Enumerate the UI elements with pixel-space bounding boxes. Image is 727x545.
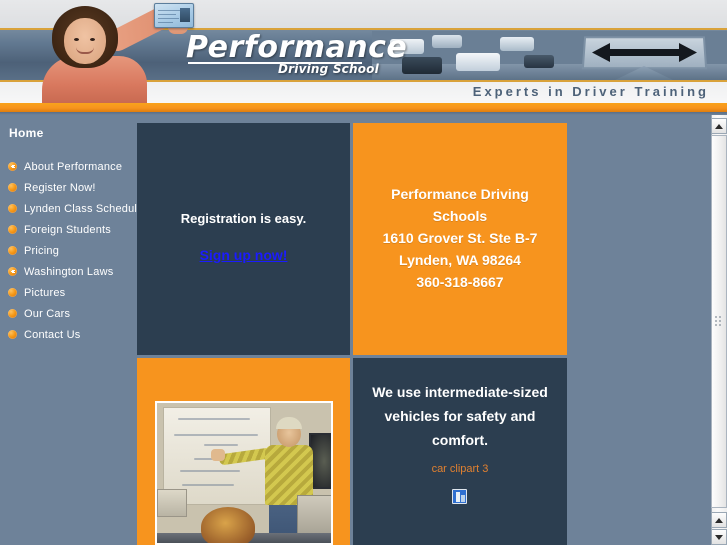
sidebar-item-label: Register Now!: [24, 182, 96, 194]
license-text-line: [158, 14, 176, 15]
double-arrow-icon: [588, 39, 701, 66]
vertical-scrollbar[interactable]: [710, 115, 727, 545]
whiteboard-writing: [204, 444, 238, 446]
car-icon: [456, 53, 500, 71]
address-panel: Performance Driving Schools 1610 Grover …: [353, 123, 567, 355]
orange-plus-bullet-icon: [8, 267, 17, 276]
sidebar-item-register-now[interactable]: Register Now!: [0, 177, 137, 198]
orange-bullet-icon: [8, 204, 17, 213]
chevron-down-icon: [715, 535, 723, 540]
drivers-license-card: [154, 3, 194, 28]
whiteboard-writing: [174, 434, 258, 436]
main-content-grid: Registration is easy. Sign up now! Perfo…: [137, 123, 702, 545]
sign-up-link-wrapper: Sign up now!: [137, 247, 350, 265]
scrollbar-thumb[interactable]: [711, 135, 727, 508]
license-text-line: [158, 10, 180, 11]
sidebar-item-label: Our Cars: [24, 308, 70, 320]
car-icon: [402, 57, 442, 74]
orange-plus-bullet-icon: [8, 162, 17, 171]
eye-icon: [74, 38, 79, 41]
address-block: Performance Driving Schools 1610 Grover …: [359, 183, 561, 293]
sidebar-item-label: About Performance: [24, 161, 122, 173]
chevron-up-icon: [715, 518, 723, 523]
student-head: [201, 507, 255, 545]
orange-bullet-icon: [8, 309, 17, 318]
address-company-line1: Performance Driving: [359, 183, 561, 205]
address-street: 1610 Grover St. Ste B-7: [359, 227, 561, 249]
registration-panel: Registration is easy. Sign up now!: [137, 123, 350, 355]
address-company-line2: Schools: [359, 205, 561, 227]
vehicles-heading: We use intermediate-sized vehicles for s…: [361, 380, 559, 452]
logo-primary-text: Performance: [186, 30, 407, 65]
orange-bullet-icon: [8, 330, 17, 339]
broken-image-alt-text: car clipart 3: [353, 463, 567, 475]
whiteboard-writing: [178, 418, 250, 420]
license-portrait: [180, 8, 190, 22]
scroll-up-button-secondary[interactable]: [711, 512, 727, 528]
sidebar-item-pricing[interactable]: Pricing: [0, 240, 137, 261]
logo-secondary-text: Driving School: [278, 62, 379, 76]
header-orange-rule: [0, 103, 727, 112]
classroom-instructor-photo: [155, 401, 333, 545]
orange-bullet-icon: [8, 225, 17, 234]
sidebar-item-foreign-students[interactable]: Foreign Students: [0, 219, 137, 240]
scroll-up-button[interactable]: [711, 118, 727, 134]
chevron-up-icon: [715, 124, 723, 129]
woman-with-license-photo: [26, 0, 186, 103]
scrollbar-grip-icon: [715, 316, 723, 328]
license-text-line: [158, 18, 179, 19]
header-tagline: Experts in Driver Training: [473, 84, 709, 99]
instructor-hand: [211, 449, 225, 461]
sidebar-item-pictures[interactable]: Pictures: [0, 282, 137, 303]
sidebar-item-label: Lynden Class Schedule: [24, 203, 143, 215]
classroom-cabinet: [297, 495, 333, 535]
sidebar-item-about-performance[interactable]: About Performance: [0, 156, 137, 177]
classroom-photo-panel: [137, 358, 350, 545]
scroll-down-button[interactable]: [711, 529, 727, 545]
license-text-line: [158, 22, 173, 23]
whiteboard-writing: [180, 470, 240, 472]
classroom-computer: [157, 489, 187, 517]
registration-heading: Registration is easy.: [137, 211, 350, 226]
sidebar-item-our-cars[interactable]: Our Cars: [0, 303, 137, 324]
orange-bullet-icon: [8, 288, 17, 297]
page-root: Performance Driving School Experts in Dr…: [0, 0, 727, 545]
eye-icon: [90, 38, 95, 41]
sidebar-menu-list: About Performance Register Now! Lynden C…: [0, 156, 137, 345]
sidebar-item-label: Pictures: [24, 287, 65, 299]
car-icon: [500, 37, 534, 51]
sidebar-navigation: Home About Performance Register Now! Lyn…: [0, 115, 137, 545]
whiteboard-writing: [182, 484, 234, 486]
sidebar-home-heading[interactable]: Home: [9, 126, 44, 140]
sidebar-item-label: Pricing: [24, 245, 59, 257]
car-icon: [432, 35, 462, 48]
broken-image-icon[interactable]: [452, 489, 467, 504]
sign-up-now-link[interactable]: Sign up now!: [200, 247, 288, 263]
sidebar-item-washington-laws[interactable]: Washington Laws: [0, 261, 137, 282]
instructor-hair: [276, 417, 302, 429]
sidebar-item-label: Contact Us: [24, 329, 80, 341]
site-header-banner: Performance Driving School Experts in Dr…: [0, 0, 727, 103]
woman-face: [64, 18, 106, 64]
address-phone: 360-318-8667: [359, 271, 561, 293]
orange-bullet-icon: [8, 246, 17, 255]
sidebar-item-contact-us[interactable]: Contact Us: [0, 324, 137, 345]
sidebar-item-label: Washington Laws: [24, 266, 113, 278]
orange-bullet-icon: [8, 183, 17, 192]
vehicles-panel: We use intermediate-sized vehicles for s…: [353, 358, 567, 545]
sidebar-item-lynden-class-schedule[interactable]: Lynden Class Schedule: [0, 198, 137, 219]
car-icon: [524, 55, 554, 68]
address-city-state-zip: Lynden, WA 98264: [359, 249, 561, 271]
sidebar-item-label: Foreign Students: [24, 224, 111, 236]
